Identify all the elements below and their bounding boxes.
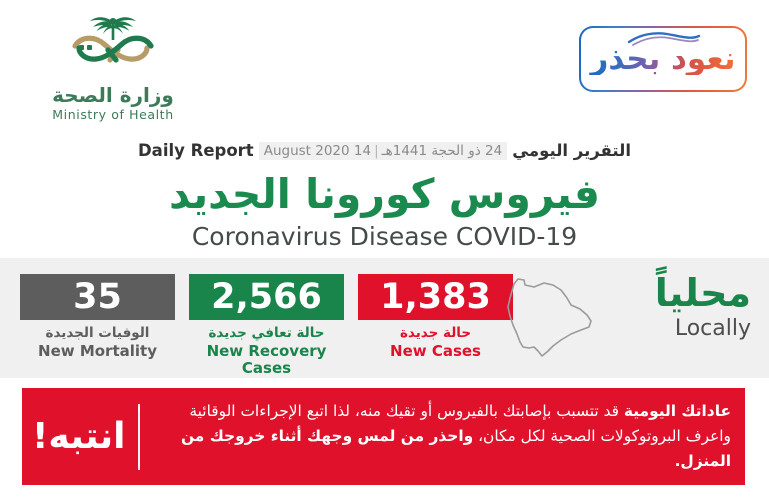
daily-report-english: Daily Report [138,141,254,160]
locally-block: محلياً Locally [501,272,751,367]
stat-label-arabic-new-mortality: الوفيات الجديدة [20,326,175,342]
warning-banner: انتبه! عاداتك اليومية قد تتسبب بإصابتك ب… [22,388,745,485]
warning-line1-bold: عاداتك اليومية [624,402,731,420]
stat-label-arabic-new-recovery-cases: حالة تعافي جديدة [189,326,344,342]
warning-attention-label: انتبه! [22,419,138,455]
ministry-name-english: Ministry of Health [18,107,208,122]
daily-report-arabic: التقرير اليومي [512,141,631,160]
gregorian-date: 14 August 2020 [264,143,371,159]
stat-label-english-new-recovery-cases: New Recovery Cases [189,343,344,378]
hijri-date: 24 ذو الحجة 1441هـ [382,143,503,159]
locally-label-arabic: محلياً [611,274,751,314]
date-separator: | [371,143,382,159]
report-date-line: التقرير اليومي24 ذو الحجة 1441هـ|14 Augu… [0,140,769,160]
warning-divider [138,404,140,470]
stat-label-english-new-cases: New Cases [358,343,513,360]
page-title-english: Coronavirus Disease COVID-19 [0,222,769,251]
date-chip: 24 ذو الحجة 1441هـ|14 August 2020 [259,142,508,160]
infographic-page: وزارة الصحة Ministry of Health نعود بحذر… [0,0,769,500]
stat-value-new-cases: 1,383 [358,274,513,320]
stats-row: 35 الوفيات الجديدة New Mortality 2,566 ح… [0,258,769,378]
stat-new-mortality: 35 الوفيات الجديدة New Mortality [20,274,175,360]
stat-label-english-new-mortality: New Mortality [20,343,175,360]
warning-text: عاداتك اليومية قد تتسبب بإصابتك بالفيروس… [140,399,746,474]
stat-new-cases: 1,383 حالة جديدة New Cases [358,274,513,360]
locally-label-english: Locally [611,316,751,341]
saudi-arabia-map-outline-icon [501,274,601,366]
stat-label-arabic-new-cases: حالة جديدة [358,326,513,342]
stats-band: 35 الوفيات الجديدة New Mortality 2,566 ح… [0,258,769,378]
palm-tree-swords-emblem-icon [48,10,178,82]
naoud-bihathar-campaign-logo: نعود بحذر [579,26,747,92]
stat-new-recovery-cases: 2,566 حالة تعافي جديدة New Recovery Case… [189,274,344,377]
page-title-arabic: فيروس كورونا الجديد [0,172,769,217]
stat-value-new-mortality: 35 [20,274,175,320]
stat-value-new-recovery-cases: 2,566 [189,274,344,320]
header: وزارة الصحة Ministry of Health نعود بحذر [0,0,769,130]
campaign-slogan: نعود بحذر [581,44,745,75]
ministry-name-arabic: وزارة الصحة [18,84,208,106]
ministry-of-health-logo: وزارة الصحة Ministry of Health [18,10,208,130]
